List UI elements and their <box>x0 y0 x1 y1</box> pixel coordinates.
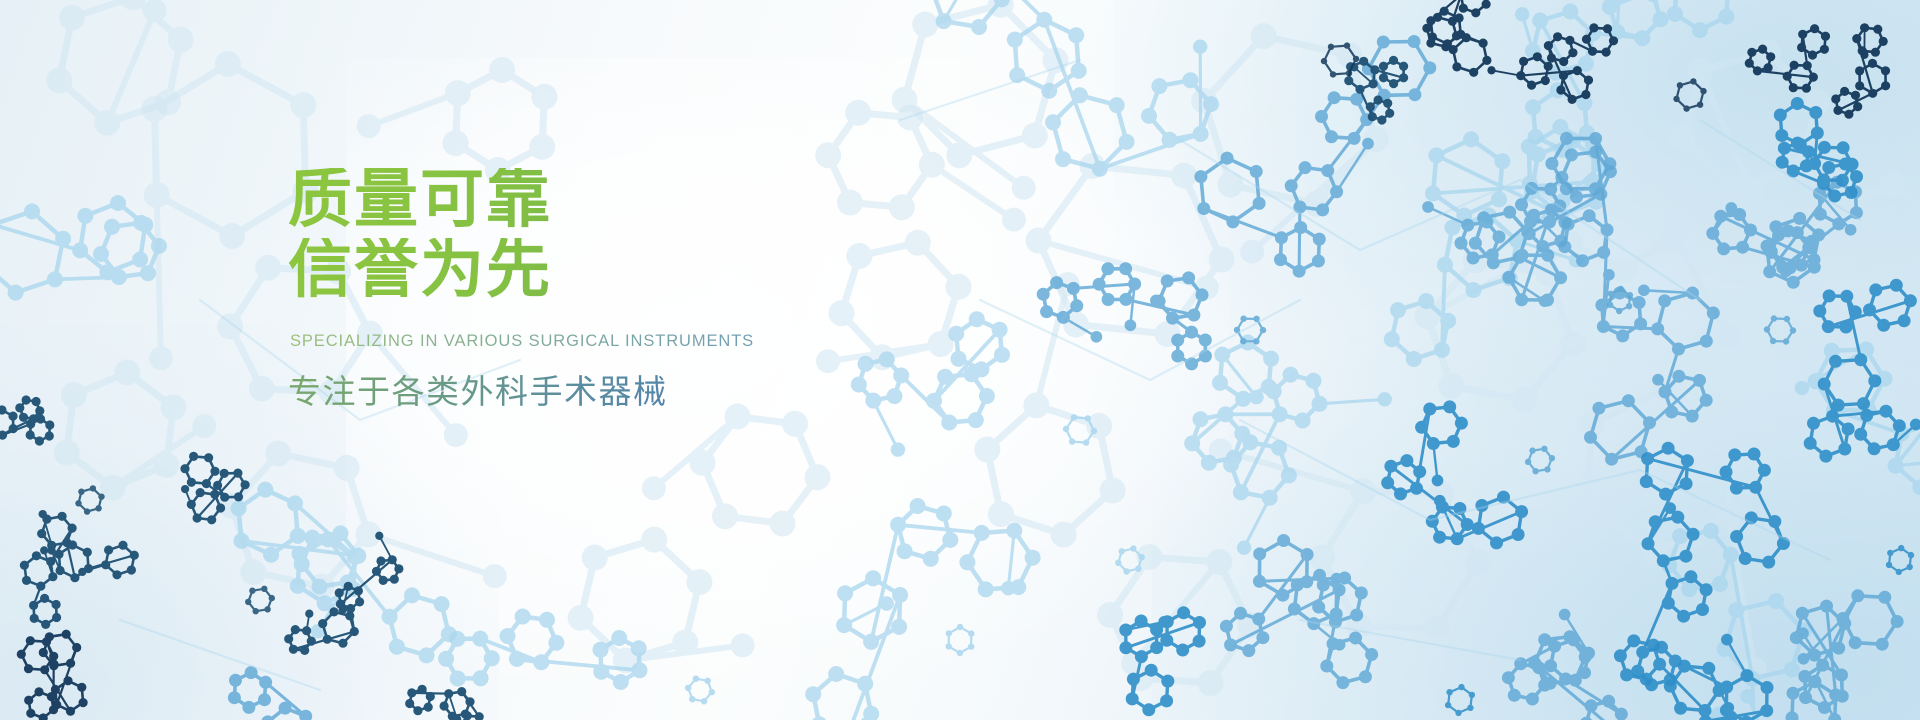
subtitle-english: SPECIALIZING IN VARIOUS SURGICAL INSTRUM… <box>290 332 988 351</box>
subtitle-chinese: 专注于各类外科手术器械 <box>288 365 988 413</box>
headline-line-2: 信誉为先 <box>288 238 988 304</box>
headline-line-1: 质量可靠 <box>288 168 988 234</box>
banner-copy: 质量可靠 信誉为先 SPECIALIZING IN VARIOUS SURGIC… <box>288 168 988 413</box>
hero-banner: 质量可靠 信誉为先 SPECIALIZING IN VARIOUS SURGIC… <box>0 0 1920 720</box>
